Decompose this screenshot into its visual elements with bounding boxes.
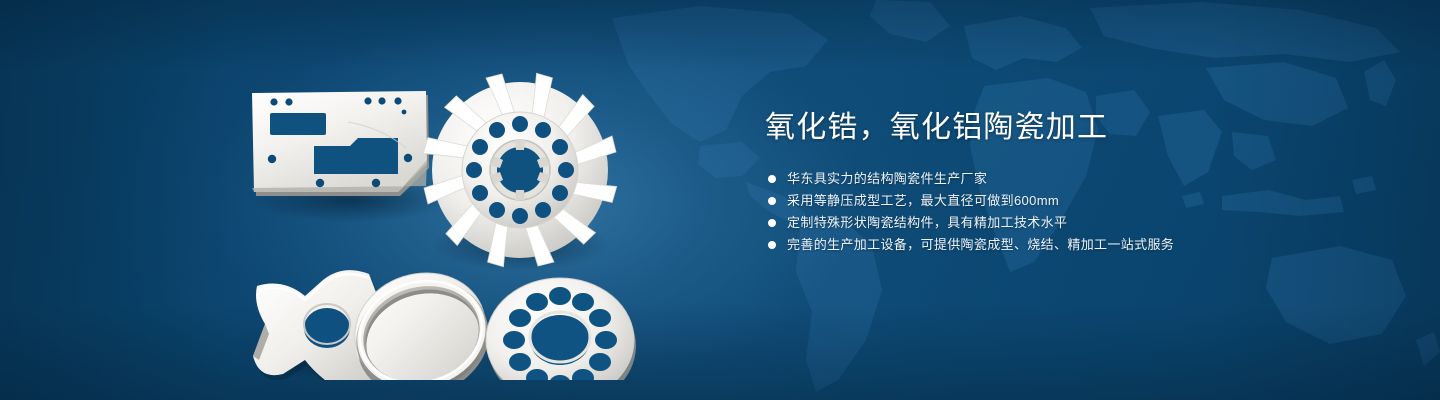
- feature-list: 华东具实力的结构陶瓷件生产厂家 采用等静压成型工艺，最大直径可做到600mm 定…: [765, 168, 1325, 256]
- ceramic-product-group: [230, 40, 710, 380]
- ceramic-machined-plate: [252, 91, 429, 196]
- hero-banner: 氧化锆，氧化铝陶瓷加工 华东具实力的结构陶瓷件生产厂家 采用等静压成型工艺，最大…: [0, 0, 1440, 400]
- bullet-dot-icon: [768, 175, 776, 183]
- list-item: 采用等静压成型工艺，最大直径可做到600mm: [765, 190, 1325, 212]
- list-item-label: 采用等静压成型工艺，最大直径可做到600mm: [787, 190, 1059, 212]
- bullet-dot-icon: [768, 219, 776, 227]
- list-item: 完善的生产加工设备，可提供陶瓷成型、烧结、精加工一站式服务: [765, 234, 1325, 256]
- bullet-dot-icon: [768, 197, 776, 205]
- list-item-label: 完善的生产加工设备，可提供陶瓷成型、烧结、精加工一站式服务: [787, 234, 1174, 256]
- banner-copy: 氧化锆，氧化铝陶瓷加工 华东具实力的结构陶瓷件生产厂家 采用等静压成型工艺，最大…: [765, 108, 1325, 256]
- list-item: 华东具实力的结构陶瓷件生产厂家: [765, 168, 1325, 190]
- page-title: 氧化锆，氧化铝陶瓷加工: [765, 108, 1325, 148]
- list-item-label: 华东具实力的结构陶瓷件生产厂家: [787, 168, 987, 190]
- list-item-label: 定制特殊形状陶瓷结构件，具有精加工技术水平: [787, 212, 1067, 234]
- bullet-dot-icon: [768, 241, 776, 249]
- list-item: 定制特殊形状陶瓷结构件，具有精加工技术水平: [765, 212, 1325, 234]
- ceramic-perforated-ring: [486, 278, 636, 380]
- impeller-hub: [490, 140, 550, 200]
